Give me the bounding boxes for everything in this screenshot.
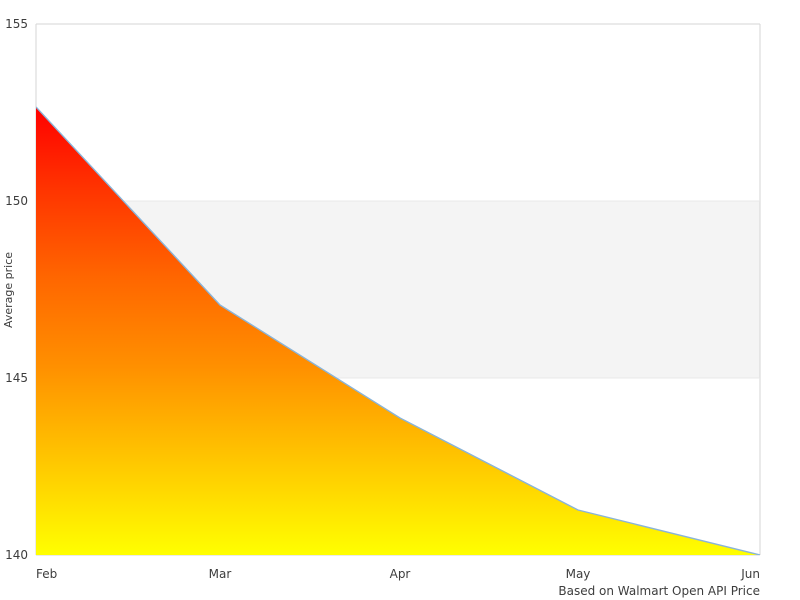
x-tick-label-jun: Jun — [740, 567, 760, 581]
x-tick-label-feb: Feb — [36, 567, 57, 581]
chart-caption: Based on Walmart Open API Price — [558, 584, 760, 598]
x-tick-label-mar: Mar — [209, 567, 232, 581]
x-tick-label-apr: Apr — [390, 567, 411, 581]
y-tick-label-155: 155 — [5, 17, 28, 31]
y-tick-label-145: 145 — [5, 371, 28, 385]
y-tick-label-140: 140 — [5, 548, 28, 562]
x-tick-label-may: May — [566, 567, 591, 581]
y-axis-title: Average price — [2, 252, 15, 328]
area-chart: 155 150 145 140 Average price Feb Mar Ap… — [0, 0, 800, 600]
chart-container: 155 150 145 140 Average price Feb Mar Ap… — [0, 0, 800, 600]
y-tick-label-150: 150 — [5, 194, 28, 208]
